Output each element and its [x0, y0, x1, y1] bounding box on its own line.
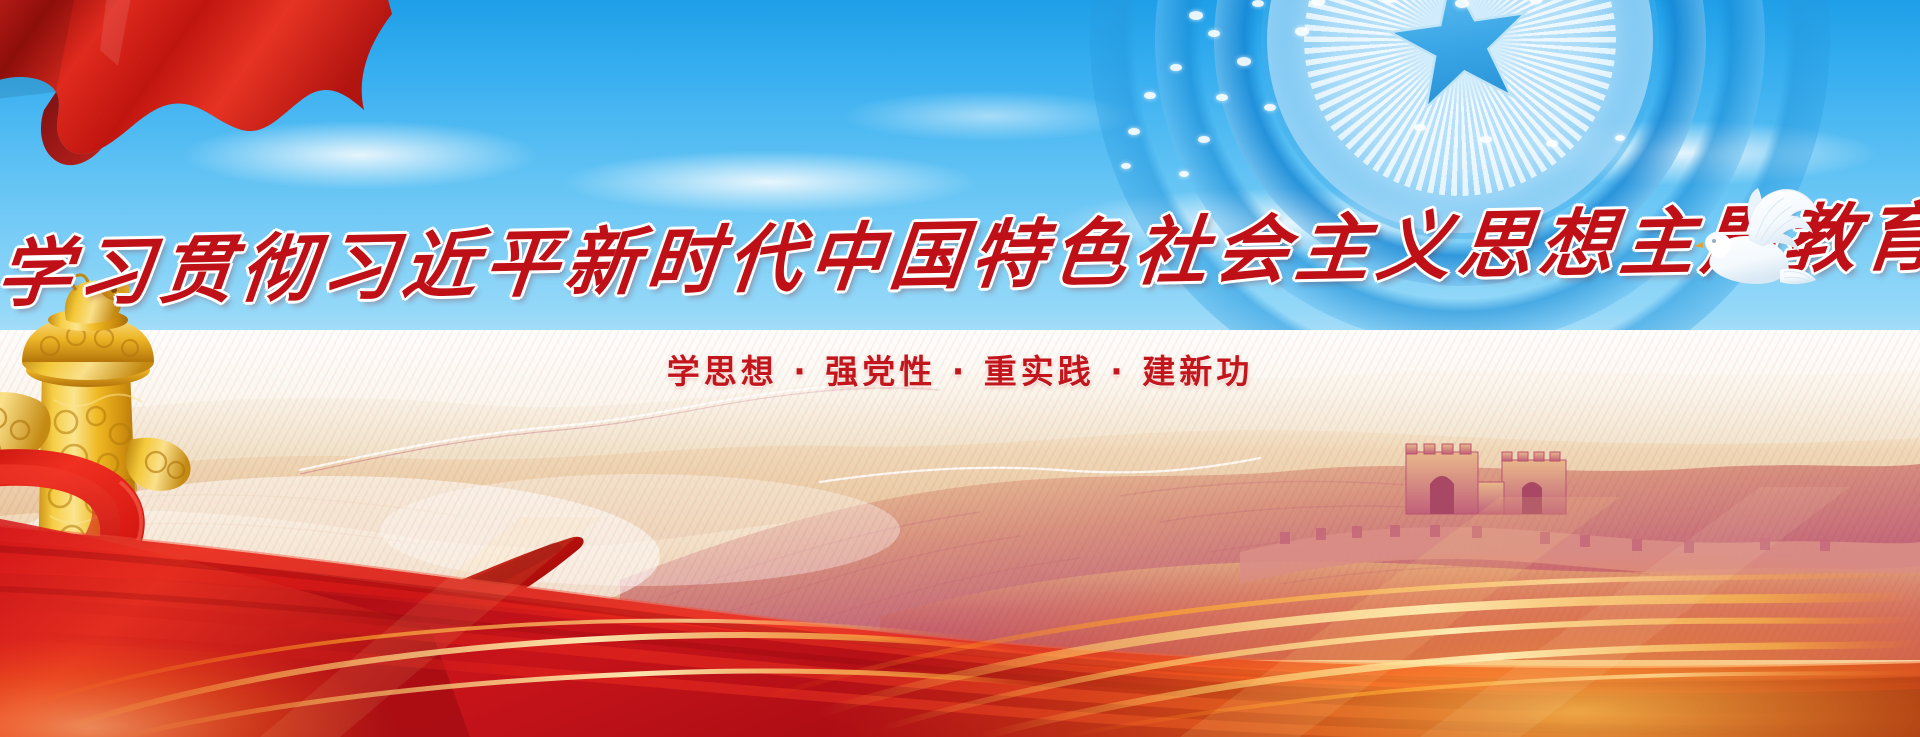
subtitle-container: 学思想 · 强党性 · 重实践 · 建新功 — [0, 345, 1920, 393]
title-container: 学习贯彻习近平新时代中国特色社会主义思想主题教育 — [0, 196, 1920, 303]
peace-dove — [1692, 186, 1828, 304]
banner-subtitle: 学思想 · 强党性 · 重实践 · 建新功 — [667, 345, 1254, 393]
sky-dot — [1237, 57, 1251, 66]
banner-title: 学习贯彻习近平新时代中国特色社会主义思想主题教育 — [0, 177, 1920, 321]
red-silk-wave — [0, 377, 1920, 737]
promotional-banner: 学习贯彻习近平新时代中国特色社会主义思想主题教育 学思想 · 强党性 · 重实践… — [0, 0, 1920, 737]
sky-dot — [1455, 0, 1469, 8]
five-pointed-star-icon — [1376, 0, 1543, 124]
red-flag — [0, 0, 400, 190]
sky-dot — [1189, 11, 1203, 20]
sky-dot — [1295, 27, 1309, 36]
